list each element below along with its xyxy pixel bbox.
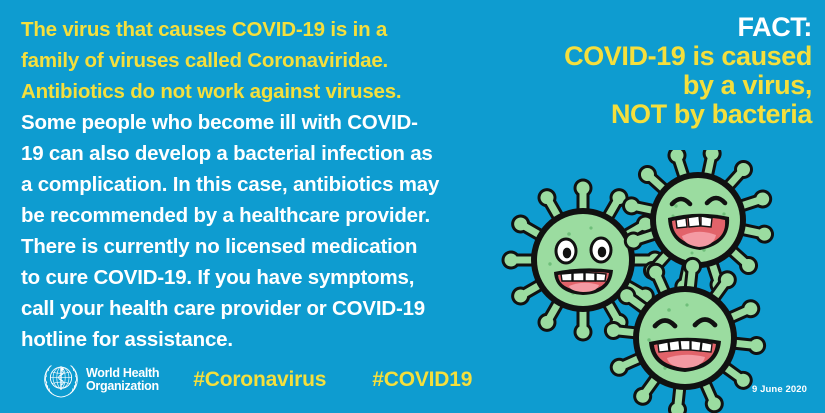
who-wordmark-line2: Organization [86,380,159,394]
body-copy-line: family of viruses called Coronaviridae. [21,45,481,76]
hashtag-covid19[interactable]: #COVID19 [372,368,472,392]
body-copy-line: a complication. In this case, antibiotic… [21,169,481,200]
body-copy-line: There is currently no licensed medicatio… [21,231,481,262]
body-copy-line: 19 can also develop a bacterial infectio… [21,138,481,169]
body-copy-line: hotline for assistance. [21,324,481,355]
body-copy-line: Antibiotics do not work against viruses. [21,76,481,107]
who-covid-fact-poster: The virus that causes COVID-19 is in a f… [0,0,825,413]
headline-line: by a virus, [564,71,812,100]
headline: FACT: COVID-19 is caused by a virus, NOT… [564,13,812,129]
who-logo: World Health Organization [42,361,159,399]
body-copy-line: call your health care provider or COVID-… [21,293,481,324]
who-emblem-icon [42,361,80,399]
body-copy: The virus that causes COVID-19 is in a f… [21,14,481,355]
headline-fact-label: FACT: [564,13,812,42]
who-wordmark-line1: World Health [86,367,159,381]
coronavirus-illustration [500,150,825,413]
date-stamp: 9 June 2020 [752,384,807,395]
who-wordmark: World Health Organization [86,367,159,394]
footer: World Health Organization #Coronavirus #… [42,361,472,399]
body-copy-line: Some people who become ill with COVID- [21,107,481,138]
body-copy-line: to cure COVID-19. If you have symptoms, [21,262,481,293]
headline-line: NOT by bacteria [564,100,812,129]
body-copy-line: The virus that causes COVID-19 is in a [21,14,481,45]
headline-line: COVID-19 is caused [564,42,812,71]
hashtag-coronavirus[interactable]: #Coronavirus [193,368,326,392]
body-copy-line: be recommended by a healthcare provider. [21,200,481,231]
